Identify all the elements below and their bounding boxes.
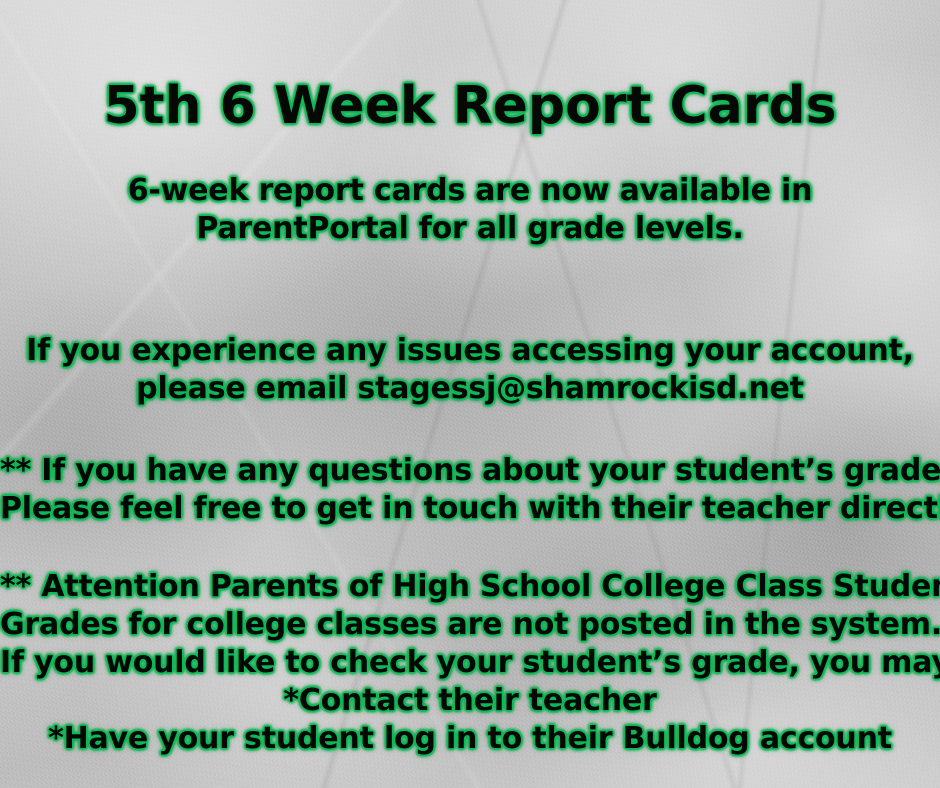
college-line-1: ** Attention Parents of High School Coll… (0, 568, 940, 606)
college-class-block: ** Attention Parents of High School Coll… (0, 568, 940, 758)
availability-block: 6-week report cards are now available in… (0, 172, 940, 248)
availability-line-1: 6-week report cards are now available in (0, 172, 940, 210)
support-line-1: If you experience any issues accessing y… (0, 332, 940, 370)
report-card-announcement-poster: 5th 6 Week Report Cards 6-week report ca… (0, 0, 940, 788)
availability-line-2: ParentPortal for all grade levels. (0, 210, 940, 248)
questions-line-1: ** If you have any questions about your … (0, 452, 940, 490)
poster-content: 5th 6 Week Report Cards 6-week report ca… (0, 0, 940, 788)
college-line-4: *Contact their teacher (0, 682, 940, 720)
college-line-3: If you would like to check your student’… (0, 644, 940, 682)
questions-line-2: Please feel free to get in touch with th… (0, 490, 940, 528)
college-line-5: *Have your student log in to their Bulld… (0, 720, 940, 758)
support-email-line: please email stagessj@shamrockisd.net (0, 370, 940, 408)
college-line-2: Grades for college classes are not poste… (0, 606, 940, 644)
page-title: 5th 6 Week Report Cards (0, 75, 940, 137)
teacher-questions-block: ** If you have any questions about your … (0, 452, 940, 528)
support-contact-block: If you experience any issues accessing y… (0, 332, 940, 408)
